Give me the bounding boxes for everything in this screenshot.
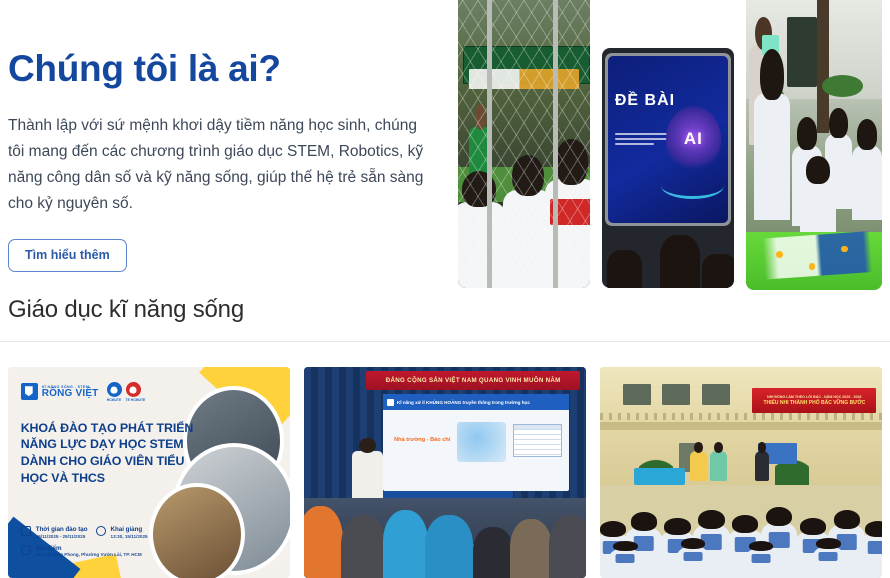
poster-heading: KHOÁ ĐÀO TẠO PHÁT TRIỂN NĂNG LỰC DẠY HỌC…: [21, 420, 207, 486]
calendar-icon: [21, 526, 31, 536]
te-hcmute-seal-label: TE HCMUTE: [126, 398, 146, 402]
hcmute-seal-label: HCMUTE: [107, 398, 122, 402]
assembly-banner-line-1: NHI ĐỒNG LÀM THEO LỜI BÁC - NĂM HỌC 2025…: [767, 395, 861, 399]
venue-row: Địa điểm 367 Lê Hồng Phong, Phường Vườn …: [21, 545, 201, 559]
rong-viet-mark-icon: [21, 383, 38, 400]
te-hcmute-seal-icon: [126, 382, 141, 397]
section-title: Giáo dục kĩ năng sống: [8, 296, 244, 324]
hero-text-column: Chúng tôi là ai? Thành lập với sứ mệnh k…: [8, 48, 436, 272]
hero-description: Thành lập với sứ mệnh khơi dậy tiềm năng…: [8, 113, 432, 217]
ai-presentation-photo[interactable]: ĐỀ BÀI AI: [602, 48, 734, 288]
presentation-screen: Kĩ năng xử lí KHỦNG HOẢNG truyền thông t…: [383, 394, 569, 491]
slide-title: Kĩ năng xử lí KHỦNG HOẢNG truyền thông t…: [397, 400, 530, 405]
training-period-label: Thời gian đào tạo: [36, 526, 88, 534]
ai-slide-logo-text: AI: [666, 106, 722, 173]
rong-viet-logo: KĨ NĂNG SỐNG - STEM RỒNG VIỆT HCMUTE TE …: [21, 382, 146, 402]
training-period-value: 15/11/2025 - 29/11/2025: [36, 534, 88, 540]
hero-image-collage: ĐỀ BÀI AI: [458, 0, 882, 292]
venue-label: Địa điểm: [36, 545, 142, 553]
slide-logo-icon: [387, 399, 394, 406]
hero-section: Chúng tôi là ai? Thành lập với sứ mệnh k…: [0, 0, 890, 292]
page-title: Chúng tôi là ai?: [8, 48, 436, 91]
assembly-banner-line-2: THIẾU NHI THÀNH PHỐ BÁC VỮNG BƯỚC: [763, 400, 865, 406]
robot-competition-photo[interactable]: [746, 0, 882, 290]
assembly-banner: NHI ĐỒNG LÀM THEO LỜI BÁC - NĂM HỌC 2025…: [752, 388, 876, 413]
stem-teacher-training-poster[interactable]: KĨ NĂNG SỐNG - STEM RỒNG VIỆT HCMUTE TE …: [8, 367, 290, 578]
opening-time-value: 13:30, 15/11/2025: [111, 534, 148, 540]
drone-soccer-photo[interactable]: [458, 0, 590, 288]
school-assembly-photo[interactable]: NHI ĐỒNG LÀM THEO LỜI BÁC - NĂM HỌC 2025…: [600, 367, 882, 578]
page-root: Chúng tôi là ai? Thành lập với sứ mệnh k…: [0, 0, 890, 578]
opening-time-label: Khai giảng: [111, 526, 148, 534]
hall-banner-text: ĐẢNG CỘNG SẢN VIỆT NAM QUANG VINH MUÔN N…: [386, 377, 561, 384]
section-divider: [0, 341, 890, 342]
poster-info-block: Thời gian đào tạo 15/11/2025 - 29/11/202…: [21, 526, 201, 563]
venue-value: 367 Lê Hồng Phong, Phường Vườn Lài, TP. …: [36, 552, 142, 558]
hcmute-seal-icon: [107, 382, 122, 397]
learn-more-button[interactable]: Tìm hiểu thêm: [8, 239, 127, 273]
hall-banner: ĐẢNG CỘNG SẢN VIỆT NAM QUANG VINH MUÔN N…: [366, 371, 580, 390]
media-skills-workshop-photo[interactable]: ĐẢNG CỘNG SẢN VIỆT NAM QUANG VINH MUÔN N…: [304, 367, 586, 578]
training-period-row: Thời gian đào tạo 15/11/2025 - 29/11/202…: [21, 526, 88, 540]
life-skills-card-grid: KĨ NĂNG SỐNG - STEM RỒNG VIỆT HCMUTE TE …: [0, 367, 890, 578]
brand-name: RỒNG VIỆT: [42, 389, 99, 399]
clock-icon: [96, 526, 106, 536]
slide-highlight: Nhà trường - Báo chí: [394, 437, 450, 443]
opening-time-row: Khai giảng 13:30, 15/11/2025: [96, 526, 148, 540]
location-pin-icon: [21, 545, 31, 555]
